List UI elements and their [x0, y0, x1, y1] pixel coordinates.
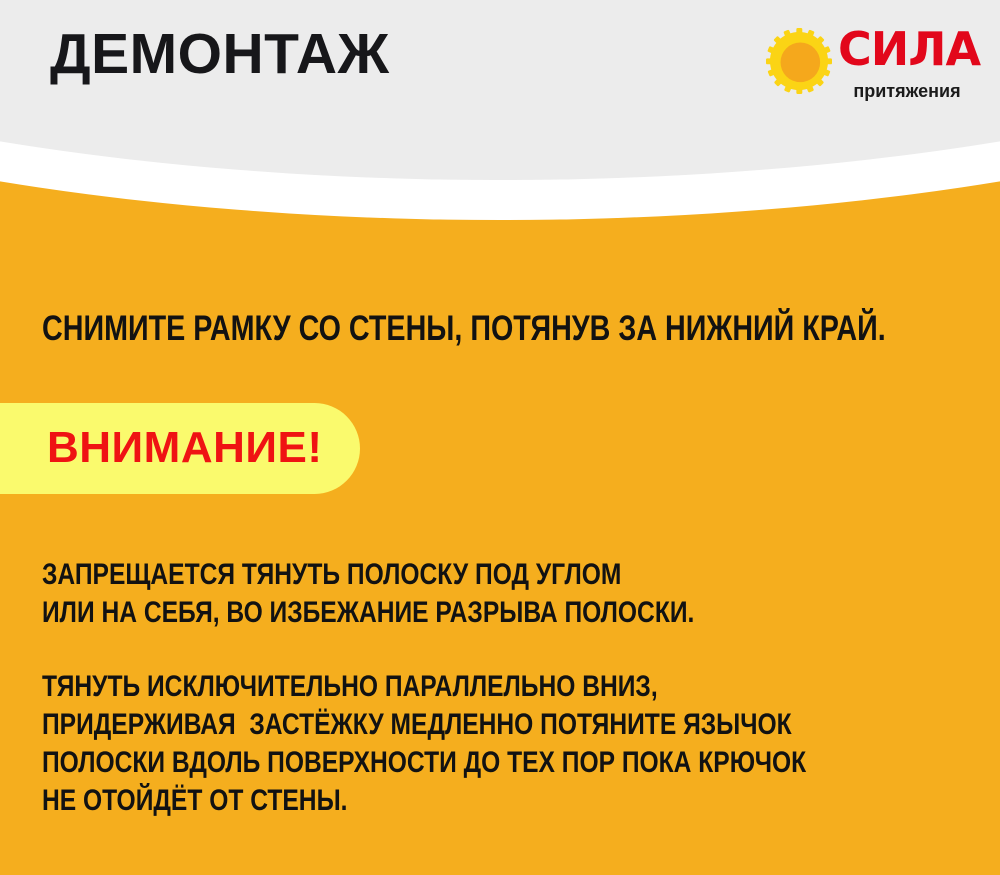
attention-badge: ВНИМАНИЕ!	[0, 403, 360, 494]
attention-badge-label: ВНИМАНИЕ!	[47, 422, 323, 474]
sun-burst-icon	[766, 28, 832, 94]
page-title: ДЕМОНТАЖ	[50, 25, 390, 85]
warning-paragraph-1: ЗАПРЕЩАЕТСЯ ТЯНУТЬ ПОЛОСКУ ПОД УГЛОМ ИЛИ…	[42, 556, 694, 632]
logo-wordmark: СИЛА	[838, 26, 980, 72]
logo-subtitle: притяжения	[842, 82, 972, 100]
instruction-slide: ДЕМОНТАЖ	[0, 0, 1000, 875]
warning-paragraph-2: ТЯНУТЬ ИСКЛЮЧИТЕЛЬНО ПАРАЛЛЕЛЬНО ВНИЗ, П…	[42, 668, 806, 820]
brand-logo[interactable]: СИЛА притяжения	[750, 24, 972, 114]
lead-instruction: СНИМИТЕ РАМКУ СО СТЕНЫ, ПОТЯНУВ ЗА НИЖНИ…	[42, 307, 886, 351]
